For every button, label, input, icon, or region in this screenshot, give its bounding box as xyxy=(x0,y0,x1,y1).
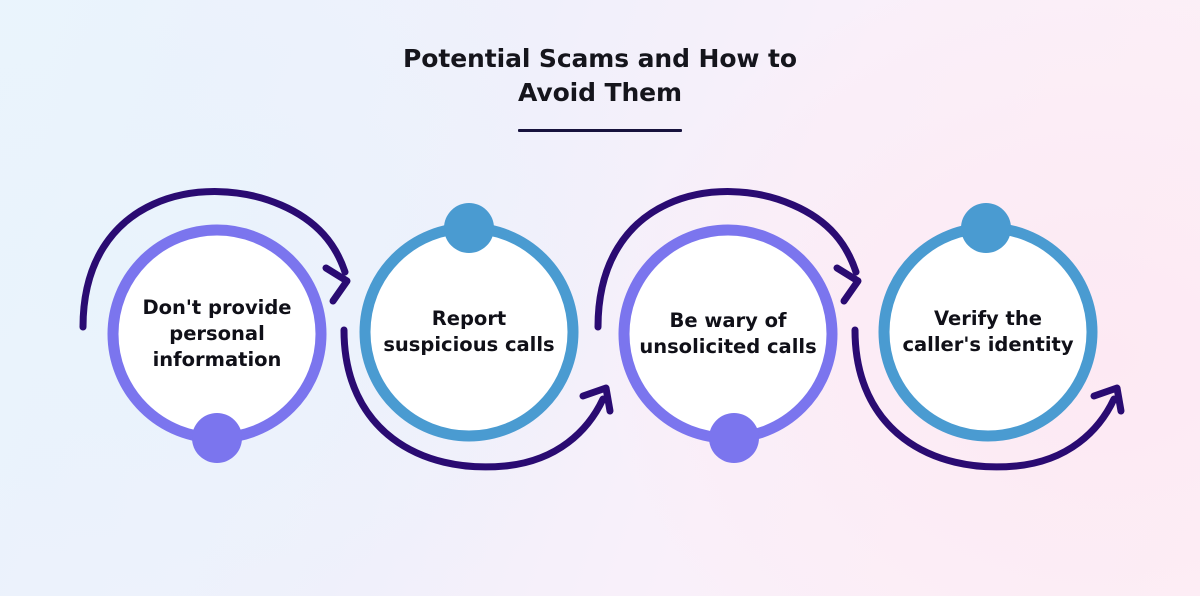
step-2-ring xyxy=(365,228,573,436)
step-circle-4[interactable] xyxy=(884,203,1092,436)
step-1-node-dot xyxy=(192,413,242,463)
infographic-canvas: Potential Scams and How to Avoid Them xyxy=(0,0,1200,596)
flow-diagram xyxy=(0,0,1200,596)
step-3-ring xyxy=(624,230,832,438)
step-4-node-dot xyxy=(961,203,1011,253)
step-1-ring xyxy=(113,230,321,438)
step-circle-2[interactable] xyxy=(365,203,573,436)
step-3-node-dot xyxy=(709,413,759,463)
step-2-node-dot xyxy=(444,203,494,253)
step-4-ring xyxy=(884,228,1092,436)
step-circle-1[interactable] xyxy=(113,230,321,463)
step-circle-3[interactable] xyxy=(624,230,832,463)
